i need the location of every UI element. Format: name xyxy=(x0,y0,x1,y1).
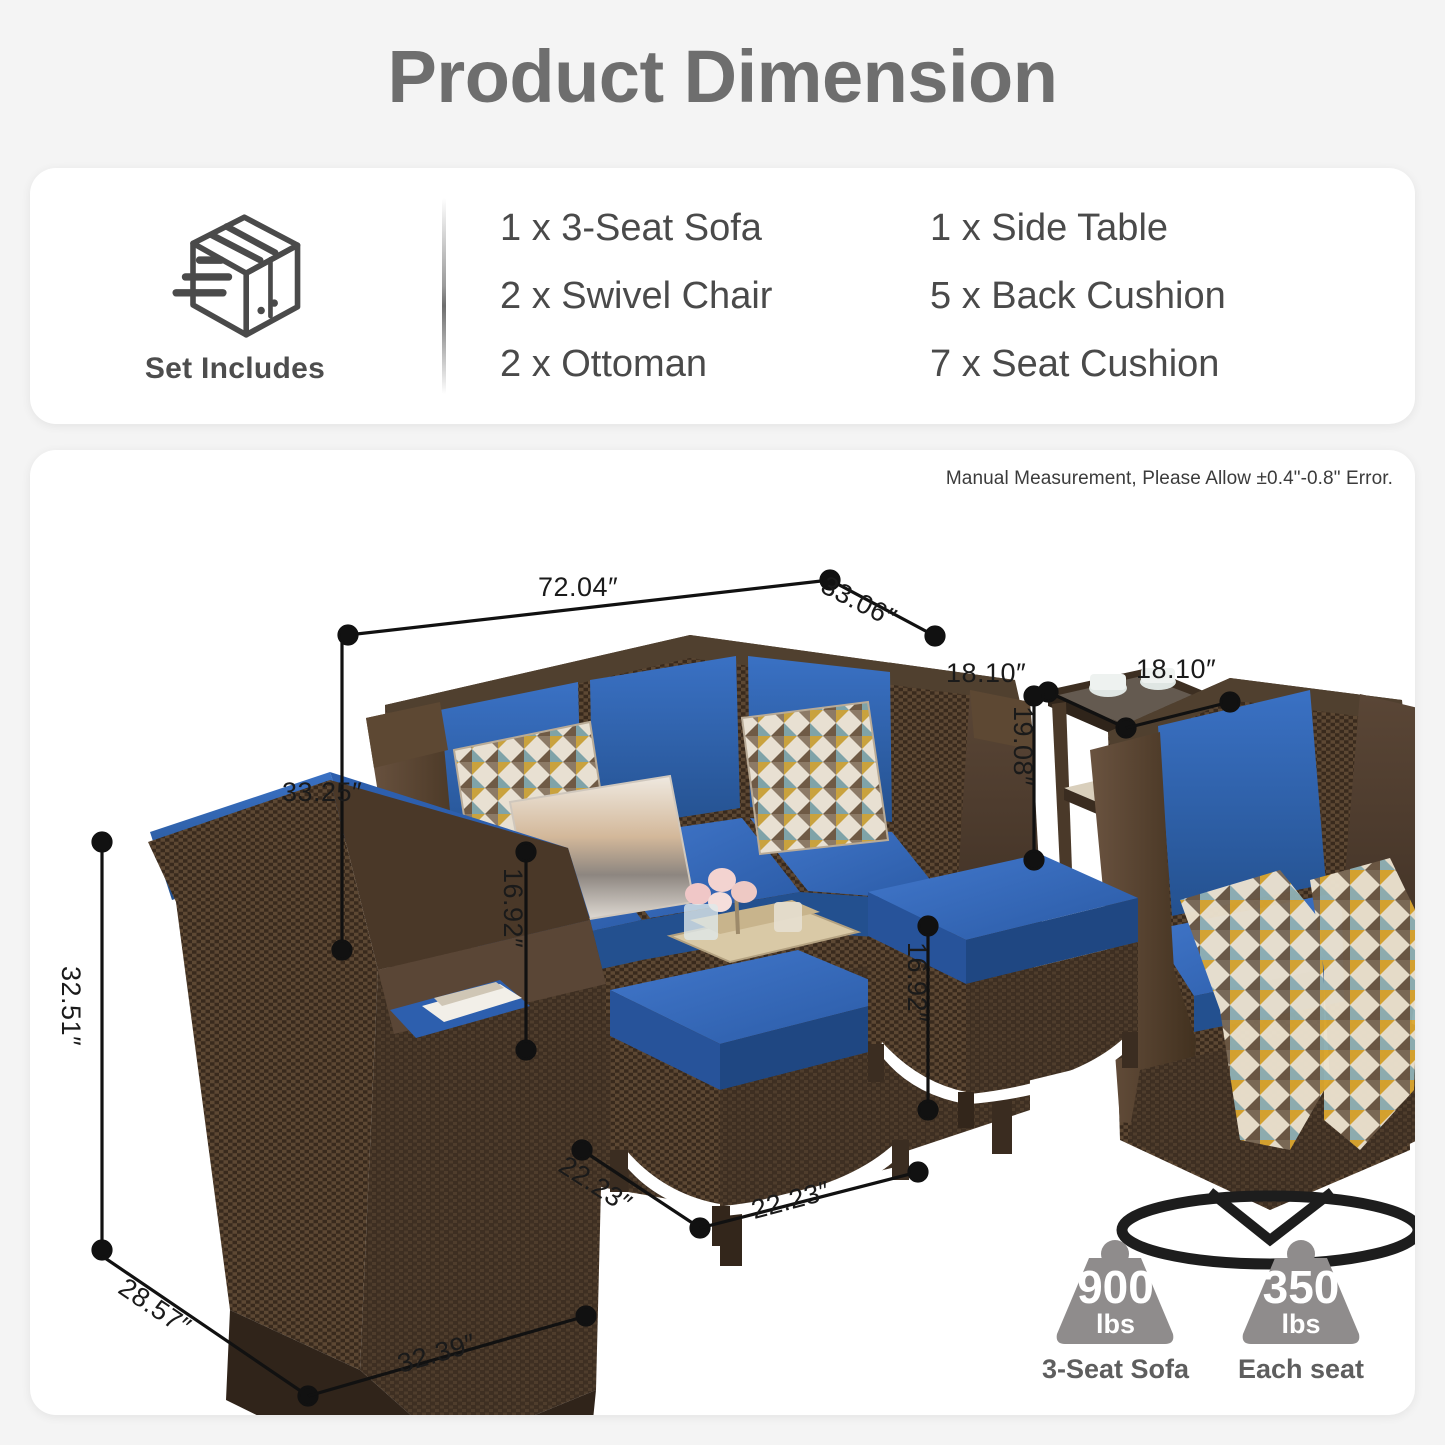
swivel-chair-left-illustration xyxy=(148,772,606,1415)
weight-badge-seat: 350 lbs Each seat xyxy=(1235,1240,1367,1385)
set-includes-label: Set Includes xyxy=(145,352,325,386)
included-items-list: 1 x 3-Seat Sofa 1 x Side Table 2 x Swive… xyxy=(500,194,1380,399)
list-item: 1 x Side Table xyxy=(930,207,1360,250)
weight-unit: lbs xyxy=(1281,1311,1320,1338)
page-title: Product Dimension xyxy=(0,34,1445,119)
set-includes-block: Set Includes xyxy=(90,188,380,403)
list-item: 2 x Ottoman xyxy=(500,343,930,386)
list-item: 2 x Swivel Chair xyxy=(500,275,930,318)
dim-label-sofa-seat-height: 16.92″ xyxy=(497,868,528,948)
weight-caption: Each seat xyxy=(1238,1354,1364,1385)
dim-label-chair-height: 32.51″ xyxy=(55,966,86,1046)
dim-label-side-table-width: 18.10″ xyxy=(946,658,1026,689)
panel-divider xyxy=(442,198,446,394)
dim-label-ottoman-height: 16.92″ xyxy=(901,942,932,1022)
dim-label-sofa-width: 72.04″ xyxy=(538,572,618,603)
weight-unit: lbs xyxy=(1096,1311,1135,1338)
weight-badge-sofa: 900 lbs 3-Seat Sofa xyxy=(1042,1240,1189,1385)
dim-label-side-table-height: 19.08″ xyxy=(1007,706,1038,786)
set-includes-panel: Set Includes 1 x 3-Seat Sofa 1 x Side Ta… xyxy=(30,168,1415,424)
weight-value: 350 xyxy=(1263,1266,1340,1310)
list-item: 7 x Seat Cushion xyxy=(930,343,1360,386)
list-item: 1 x 3-Seat Sofa xyxy=(500,207,930,250)
weight-caption: 3-Seat Sofa xyxy=(1042,1354,1189,1385)
dim-label-sofa-height: 33.25″ xyxy=(282,777,362,808)
dimension-diagram-panel: Manual Measurement, Please Allow ±0.4"-0… xyxy=(30,450,1415,1415)
product-dimension-page: Product Dimension xyxy=(0,0,1445,1445)
list-item: 5 x Back Cushion xyxy=(930,275,1360,318)
weight-capacity-badges: 900 lbs 3-Seat Sofa 350 lbs Each sea xyxy=(1042,1240,1367,1385)
dim-label-side-table-depth: 18.10″ xyxy=(1136,654,1216,685)
swivel-chair-right-illustration xyxy=(1090,678,1415,1264)
weight-value: 900 xyxy=(1077,1266,1154,1310)
package-box-icon xyxy=(155,206,315,346)
